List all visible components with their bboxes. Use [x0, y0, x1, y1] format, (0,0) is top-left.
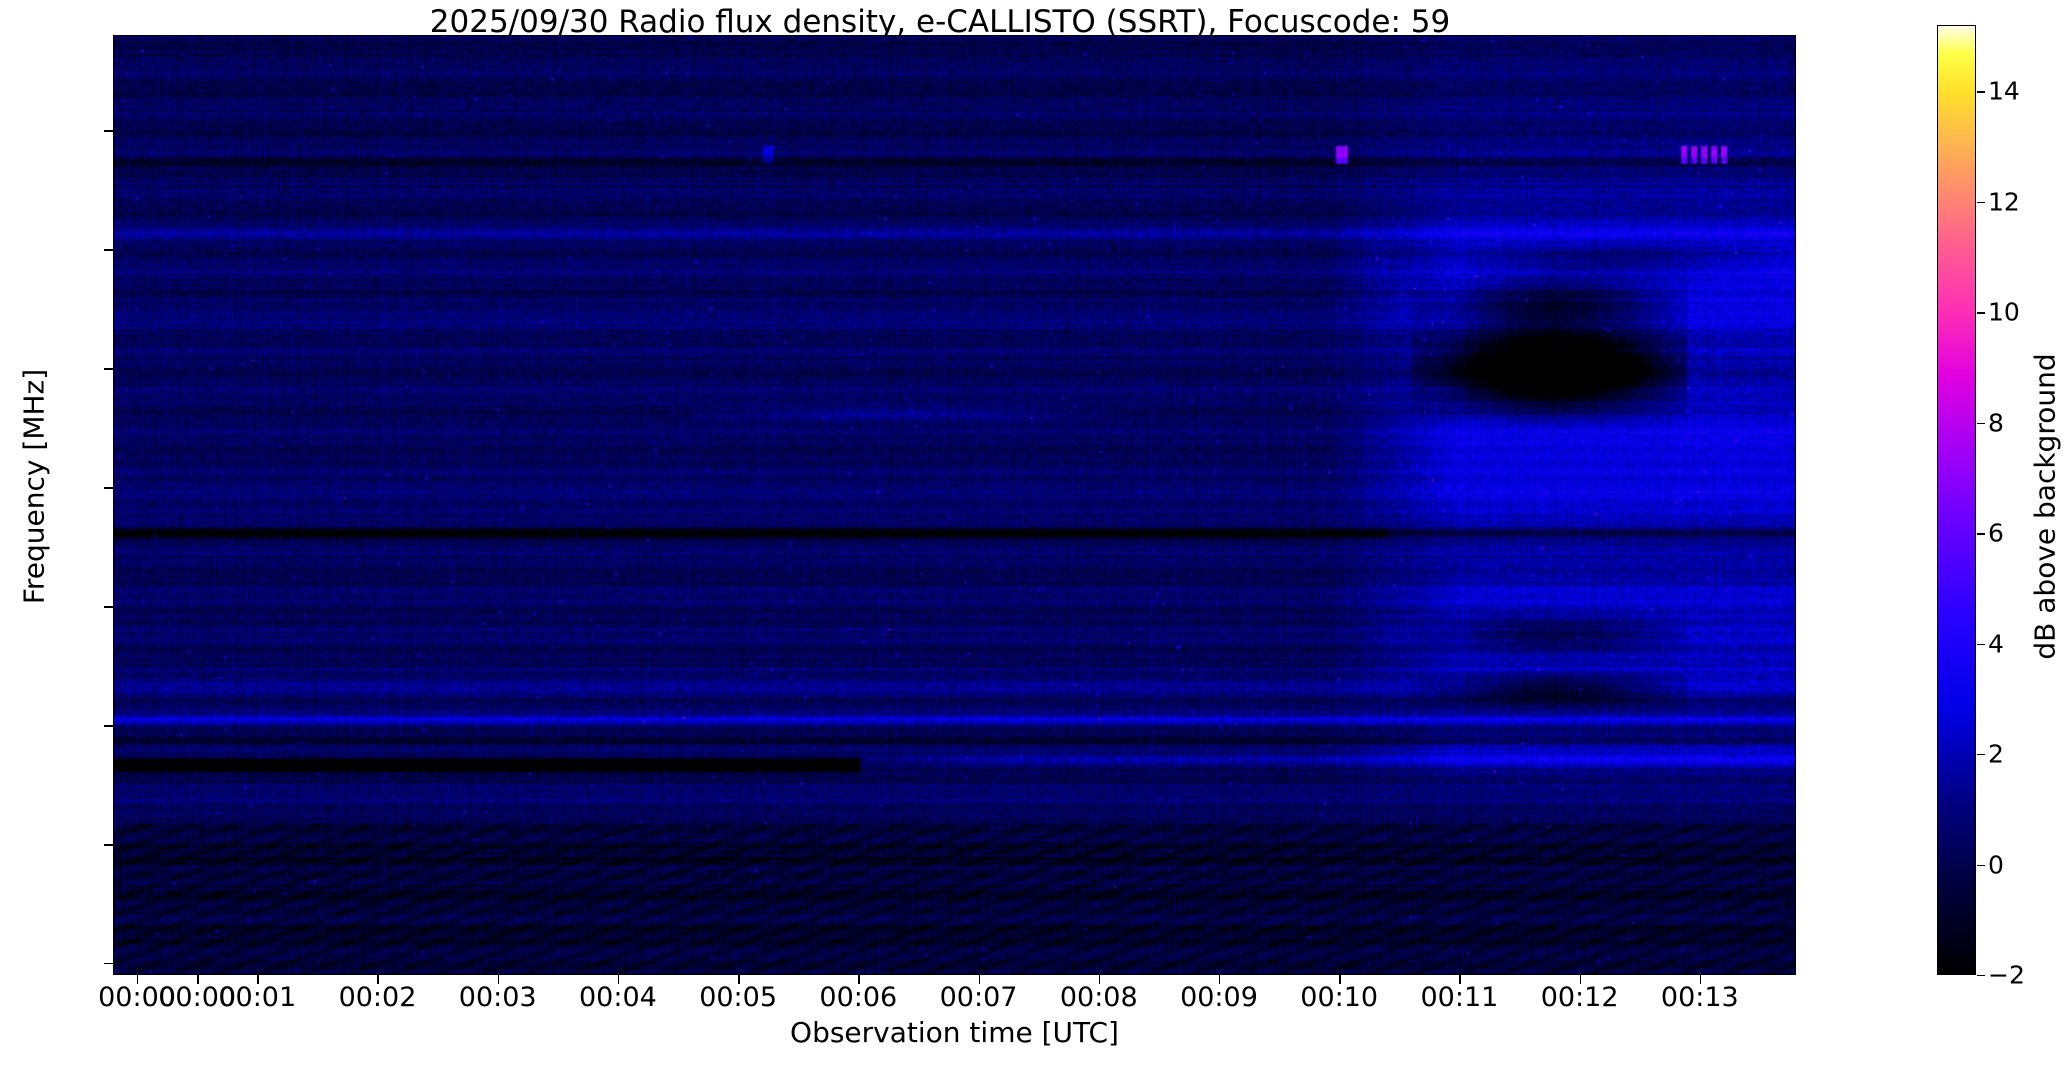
x-tick-mark	[1580, 975, 1581, 984]
x-tick-mark	[257, 975, 258, 984]
x-tick-label: 00:04	[579, 982, 657, 1013]
x-tick-mark	[1700, 975, 1701, 984]
x-tick-mark	[738, 975, 739, 984]
colorbar-tick-label: 0	[1988, 850, 2004, 879]
y-tick-mark	[104, 130, 113, 131]
x-tick-mark	[197, 975, 198, 984]
x-tick-label: 00:07	[940, 982, 1018, 1013]
x-tick-label: 00:03	[459, 982, 537, 1013]
x-tick-label: 00:11	[1420, 982, 1498, 1013]
x-tick-mark	[1459, 975, 1460, 984]
x-tick-label: 00:06	[819, 982, 897, 1013]
colorbar-tick-mark	[1977, 975, 1985, 976]
x-tick-mark	[618, 975, 619, 984]
y-tick-mark	[104, 368, 113, 369]
colorbar-tick-label: 12	[1988, 187, 2020, 216]
y-tick-mark	[104, 725, 113, 726]
colorbar-tick-label: 2	[1988, 740, 2004, 769]
x-tick-mark	[1099, 975, 1100, 984]
x-axis-label: Observation time [UTC]	[113, 1016, 1796, 1049]
x-tick-mark	[858, 975, 859, 984]
spectrogram-canvas	[114, 36, 1795, 974]
x-tick-mark	[137, 975, 138, 984]
x-tick-mark	[1339, 975, 1340, 984]
y-tick-mark	[104, 844, 113, 845]
colorbar-tick-mark	[1977, 754, 1985, 755]
x-tick-label: 00:12	[1541, 982, 1619, 1013]
colorbar-tick-label: −2	[1988, 961, 2025, 990]
colorbar-tick-mark	[1977, 202, 1985, 203]
y-axis-label: Frequency [MHz]	[18, 17, 51, 957]
x-tick-label: 00:05	[699, 982, 777, 1013]
x-tick-mark	[1219, 975, 1220, 984]
y-tick-mark	[104, 249, 113, 250]
colorbar-tick-label: 10	[1988, 298, 2020, 327]
colorbar-label: dB above background	[2029, 32, 2062, 982]
spectrogram-image	[114, 36, 1795, 974]
x-tick-label: 00:01	[218, 982, 296, 1013]
colorbar-tick-label: 6	[1988, 519, 2004, 548]
colorbar-tick-label: 14	[1988, 77, 2020, 106]
colorbar-tick-mark	[1977, 533, 1985, 534]
x-tick-mark	[377, 975, 378, 984]
colorbar-tick-mark	[1977, 865, 1985, 866]
colorbar-tick-mark	[1977, 423, 1985, 424]
x-tick-mark	[498, 975, 499, 984]
colorbar-tick-mark	[1977, 312, 1985, 313]
colorbar-tick-mark	[1977, 91, 1985, 92]
spectrogram-plot-area	[113, 35, 1796, 975]
y-tick-mark	[104, 963, 113, 964]
y-tick-mark	[104, 606, 113, 607]
colorbar-tick-label: 4	[1988, 629, 2004, 658]
x-tick-mark	[979, 975, 980, 984]
x-tick-label: 00:10	[1300, 982, 1378, 1013]
spectrogram-figure: 2025/09/30 Radio flux density, e-CALLIST…	[0, 0, 2066, 1067]
x-tick-label: 00:02	[339, 982, 417, 1013]
colorbar	[1937, 25, 1976, 975]
x-tick-label: 00:13	[1661, 982, 1739, 1013]
colorbar-tick-label: 8	[1988, 408, 2004, 437]
colorbar-tick-mark	[1977, 644, 1985, 645]
x-tick-label: 00:09	[1180, 982, 1258, 1013]
x-tick-label: 00:08	[1060, 982, 1138, 1013]
y-tick-mark	[104, 487, 113, 488]
colorbar-gradient	[1938, 26, 1975, 974]
